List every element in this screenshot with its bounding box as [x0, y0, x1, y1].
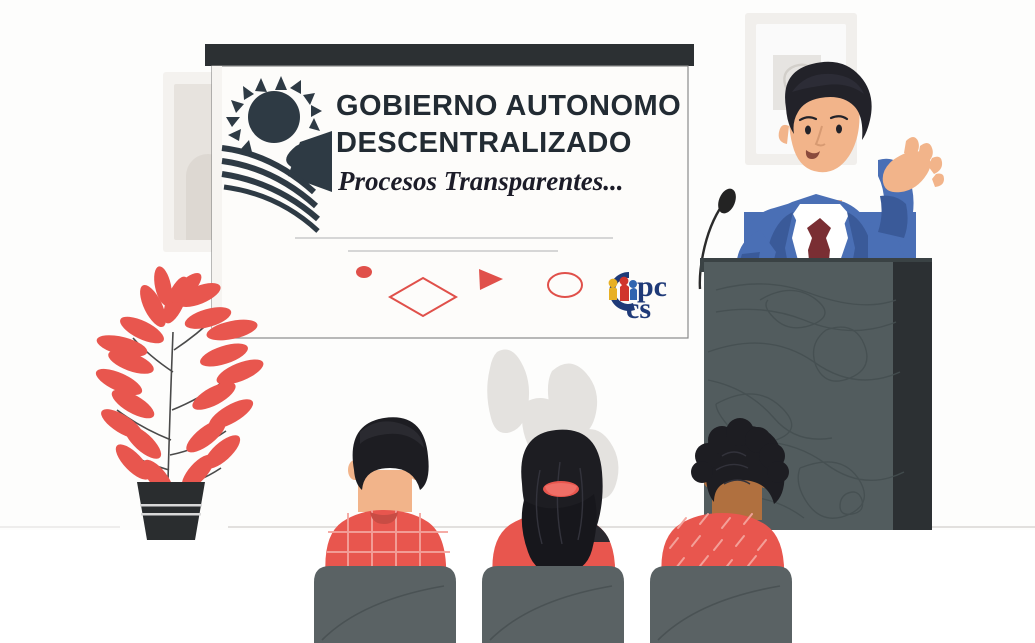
cpccs-dot-yellow: [609, 279, 618, 288]
presentation-scene: GOBIERNO AUTONOMO DESCENTRALIZADO Proces…: [0, 0, 1035, 643]
audience-center-chair: [482, 566, 624, 643]
red-dot: [356, 266, 372, 278]
audience-left-chair: [314, 566, 456, 643]
cpccs-figure-yellow: [609, 287, 617, 300]
screen-mount-bar: [205, 44, 694, 66]
plant-pot: [137, 482, 205, 540]
cpccs-dot-red: [620, 277, 629, 286]
sun-disc-icon: [248, 91, 300, 143]
cpccs-text-bottom: cs: [626, 292, 651, 325]
podium-side-panel: [893, 262, 932, 530]
audience-right-chair: [650, 566, 792, 643]
slide-title-line-1: GOBIERNO AUTONOMO: [336, 90, 681, 122]
slide-title-line-2: DESCENTRALIZADO: [336, 127, 632, 159]
slide-tagline: Procesos Transparentes...: [337, 166, 624, 196]
cpccs-dot-blue: [629, 280, 637, 288]
